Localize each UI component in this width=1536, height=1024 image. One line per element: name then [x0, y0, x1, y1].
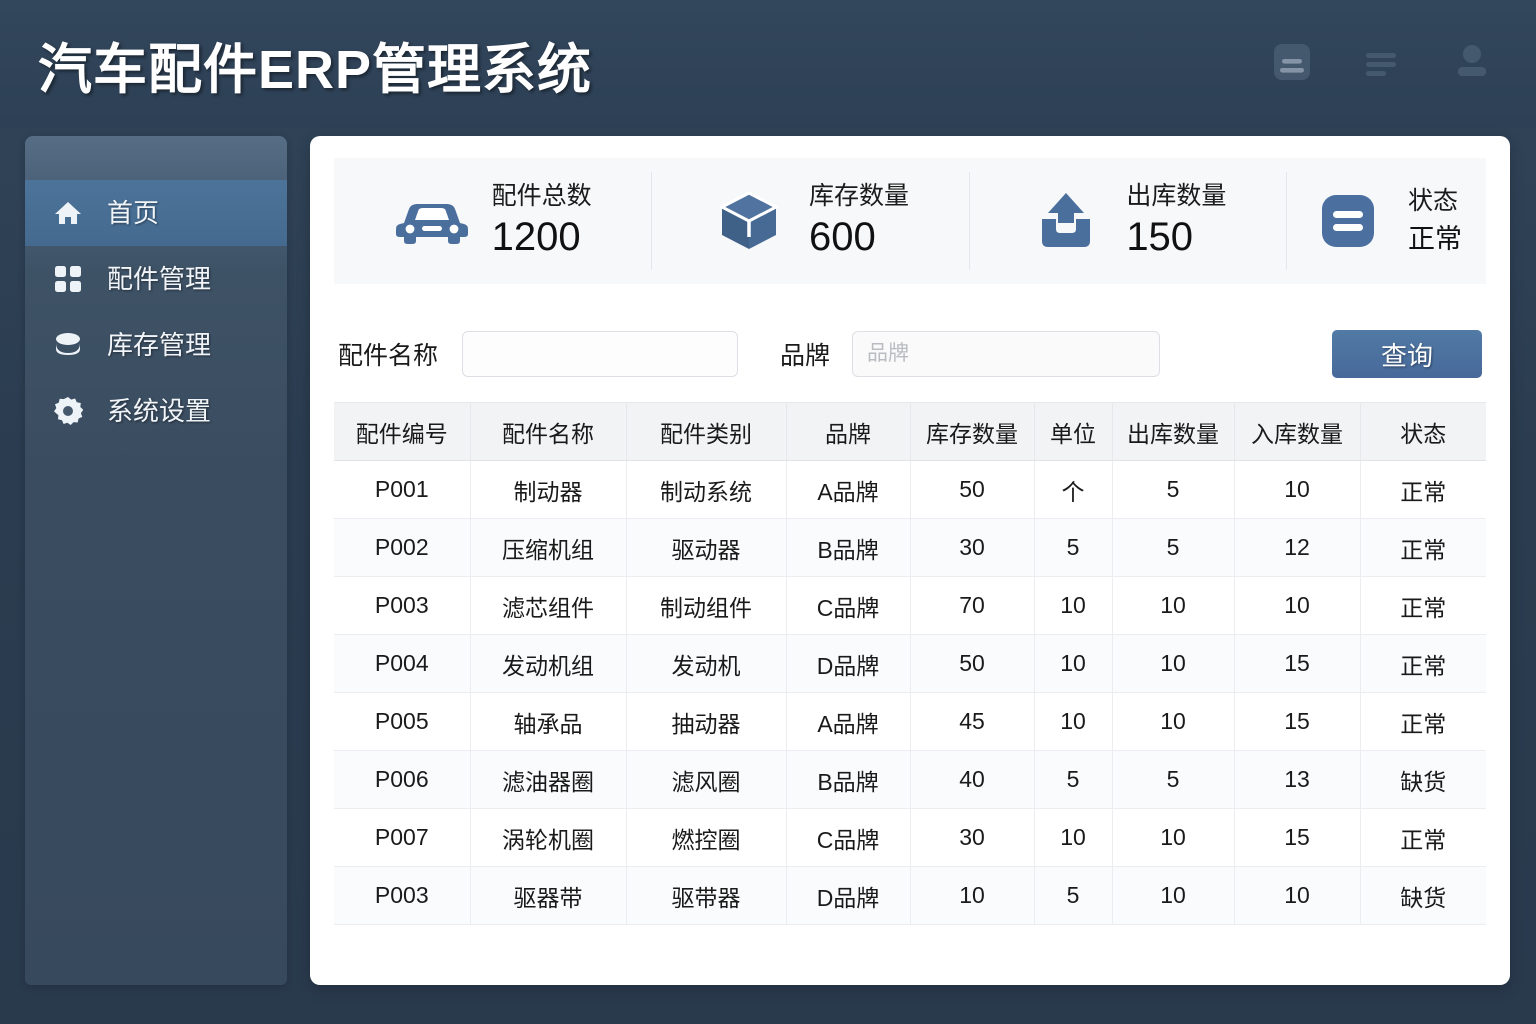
header-actions	[1270, 0, 1494, 128]
home-icon	[51, 196, 85, 230]
cell-part-id: P003	[334, 577, 470, 635]
sidebar-item-label: 首页	[107, 200, 159, 226]
col-stock-qty[interactable]: 库存数量	[910, 403, 1034, 461]
cell-status: 正常	[1360, 461, 1486, 519]
cell-status: 正常	[1360, 577, 1486, 635]
cell-part-id: P002	[334, 519, 470, 577]
cell-inbound-qty: 15	[1234, 693, 1360, 751]
cell-outbound-qty: 10	[1112, 867, 1234, 925]
table-body: P001制动器制动系统A品牌50个510正常P002压缩机组驱动器B品牌3055…	[334, 461, 1486, 925]
cell-inbound-qty: 10	[1234, 577, 1360, 635]
col-part-id[interactable]: 配件编号	[334, 403, 470, 461]
cell-unit: 10	[1034, 635, 1112, 693]
cell-status: 缺货	[1360, 867, 1486, 925]
cell-part-id: P001	[334, 461, 470, 519]
table-row[interactable]: P006滤油器圈滤风圈B品牌405513缺货	[334, 751, 1486, 809]
layers-icon	[51, 328, 85, 362]
cell-unit: 10	[1034, 577, 1112, 635]
sidebar-item-home[interactable]: 首页	[25, 180, 287, 246]
cell-part-name: 滤芯组件	[470, 577, 626, 635]
cell-brand: A品牌	[786, 693, 910, 751]
car-icon	[394, 188, 470, 254]
cell-unit: 10	[1034, 693, 1112, 751]
stat-label: 库存数量	[809, 182, 909, 211]
document-icon[interactable]	[1270, 40, 1314, 89]
cell-brand: A品牌	[786, 461, 910, 519]
cell-brand: B品牌	[786, 519, 910, 577]
box-icon	[711, 188, 787, 254]
table-head: 配件编号 配件名称 配件类别 品牌 库存数量 单位 出库数量 入库数量 状态	[334, 403, 1486, 461]
cell-stock-qty: 70	[910, 577, 1034, 635]
cell-part-name: 制动器	[470, 461, 626, 519]
cell-outbound-qty: 5	[1112, 461, 1234, 519]
cell-part-name: 发动机组	[470, 635, 626, 693]
cell-outbound-qty: 5	[1112, 751, 1234, 809]
cell-status: 正常	[1360, 809, 1486, 867]
sidebar-item-parts[interactable]: 配件管理	[25, 246, 287, 312]
col-brand[interactable]: 品牌	[786, 403, 910, 461]
cell-part-category: 驱带器	[626, 867, 786, 925]
grid-icon	[51, 262, 85, 296]
sidebar-item-label: 配件管理	[107, 266, 211, 292]
cell-inbound-qty: 10	[1234, 461, 1360, 519]
cell-unit: 5	[1034, 519, 1112, 577]
cell-brand: D品牌	[786, 867, 910, 925]
cell-stock-qty: 50	[910, 461, 1034, 519]
cell-part-category: 滤风圈	[626, 751, 786, 809]
cell-status: 正常	[1360, 519, 1486, 577]
status-badge: 正常	[1408, 224, 1462, 255]
app-header: 汽车配件ERP管理系统	[0, 0, 1536, 128]
cell-unit: 5	[1034, 867, 1112, 925]
col-part-category[interactable]: 配件类别	[626, 403, 786, 461]
col-outbound-qty[interactable]: 出库数量	[1112, 403, 1234, 461]
cell-part-id: P003	[334, 867, 470, 925]
stat-card-total-parts: 配件总数 1200	[334, 158, 651, 284]
part-name-label: 配件名称	[338, 336, 438, 372]
part-name-input[interactable]	[462, 331, 738, 377]
table-row[interactable]: P002压缩机组驱动器B品牌305512正常	[334, 519, 1486, 577]
sidebar-item-inventory[interactable]: 库存管理	[25, 312, 287, 378]
query-button[interactable]: 查询	[1332, 330, 1482, 378]
cell-part-category: 发动机	[626, 635, 786, 693]
cell-unit: 个	[1034, 461, 1112, 519]
cell-part-category: 燃控圈	[626, 809, 786, 867]
cell-part-id: P005	[334, 693, 470, 751]
upload-icon	[1028, 188, 1104, 254]
sidebar: 首页 配件管理 库存管理	[25, 136, 287, 985]
stat-value: 600	[809, 214, 909, 260]
col-unit[interactable]: 单位	[1034, 403, 1112, 461]
cell-stock-qty: 45	[910, 693, 1034, 751]
cell-stock-qty: 30	[910, 809, 1034, 867]
cell-outbound-qty: 10	[1112, 635, 1234, 693]
table-header-row: 配件编号 配件名称 配件类别 品牌 库存数量 单位 出库数量 入库数量 状态	[334, 403, 1486, 461]
sidebar-item-label: 库存管理	[107, 332, 211, 358]
col-status[interactable]: 状态	[1360, 403, 1486, 461]
search-bar: 配件名称 品牌 查询	[334, 306, 1486, 402]
cell-outbound-qty: 5	[1112, 519, 1234, 577]
cell-outbound-qty: 10	[1112, 577, 1234, 635]
page-title: 汽车配件ERP管理系统	[38, 25, 592, 104]
brand-label: 品牌	[780, 336, 830, 372]
menu-icon[interactable]	[1360, 40, 1404, 89]
table-row[interactable]: P004发动机组发动机D品牌50101015正常	[334, 635, 1486, 693]
stat-value: 1200	[492, 214, 592, 260]
cell-inbound-qty: 13	[1234, 751, 1360, 809]
cell-unit: 10	[1034, 809, 1112, 867]
cell-part-name: 涡轮机圈	[470, 809, 626, 867]
cell-part-name: 驱器带	[470, 867, 626, 925]
cell-inbound-qty: 10	[1234, 867, 1360, 925]
cell-stock-qty: 30	[910, 519, 1034, 577]
table-row[interactable]: P001制动器制动系统A品牌50个510正常	[334, 461, 1486, 519]
brand-input[interactable]	[852, 331, 1160, 377]
cell-inbound-qty: 15	[1234, 809, 1360, 867]
cell-status: 正常	[1360, 635, 1486, 693]
sidebar-item-settings[interactable]: 系统设置	[25, 378, 287, 444]
cell-brand: D品牌	[786, 635, 910, 693]
cell-status: 正常	[1360, 693, 1486, 751]
col-inbound-qty[interactable]: 入库数量	[1234, 403, 1360, 461]
cell-unit: 5	[1034, 751, 1112, 809]
table-row[interactable]: P007涡轮机圈燃控圈C品牌30101015正常	[334, 809, 1486, 867]
cell-brand: C品牌	[786, 809, 910, 867]
stat-card-outbound-qty: 出库数量 150	[969, 158, 1286, 284]
stat-value: 150	[1126, 214, 1226, 260]
list-badge-icon	[1310, 188, 1386, 254]
cell-part-category: 制动组件	[626, 577, 786, 635]
cell-inbound-qty: 15	[1234, 635, 1360, 693]
cell-outbound-qty: 10	[1112, 693, 1234, 751]
gear-icon	[51, 394, 85, 428]
user-avatar-icon[interactable]	[1450, 40, 1494, 89]
col-part-name[interactable]: 配件名称	[470, 403, 626, 461]
table-row[interactable]: P005轴承品抽动器A品牌45101015正常	[334, 693, 1486, 751]
cell-part-name: 轴承品	[470, 693, 626, 751]
cell-brand: C品牌	[786, 577, 910, 635]
cell-part-name: 压缩机组	[470, 519, 626, 577]
cell-part-name: 滤油器圈	[470, 751, 626, 809]
main-panel: 配件总数 1200 库存数量 600	[310, 136, 1510, 985]
cell-stock-qty: 40	[910, 751, 1034, 809]
stats-row: 配件总数 1200 库存数量 600	[334, 158, 1486, 284]
cell-part-category: 驱动器	[626, 519, 786, 577]
app-window: 汽车配件ERP管理系统	[0, 0, 1536, 1024]
cell-status: 缺货	[1360, 751, 1486, 809]
cell-inbound-qty: 12	[1234, 519, 1360, 577]
cell-stock-qty: 50	[910, 635, 1034, 693]
cell-part-category: 抽动器	[626, 693, 786, 751]
sidebar-item-label: 系统设置	[107, 398, 211, 424]
cell-part-id: P004	[334, 635, 470, 693]
cell-stock-qty: 10	[910, 867, 1034, 925]
cell-part-id: P006	[334, 751, 470, 809]
cell-outbound-qty: 10	[1112, 809, 1234, 867]
stat-label: 配件总数	[492, 182, 592, 211]
table-row[interactable]: P003驱器带驱带器D品牌1051010缺货	[334, 867, 1486, 925]
stat-label: 状态	[1408, 187, 1458, 216]
table-row[interactable]: P003滤芯组件制动组件C品牌70101010正常	[334, 577, 1486, 635]
stat-card-status: 状态 正常	[1286, 158, 1486, 284]
parts-table: 配件编号 配件名称 配件类别 品牌 库存数量 单位 出库数量 入库数量 状态 P…	[334, 402, 1486, 925]
cell-part-category: 制动系统	[626, 461, 786, 519]
stat-card-stock-qty: 库存数量 600	[651, 158, 968, 284]
cell-part-id: P007	[334, 809, 470, 867]
stat-label: 出库数量	[1126, 182, 1226, 211]
cell-brand: B品牌	[786, 751, 910, 809]
